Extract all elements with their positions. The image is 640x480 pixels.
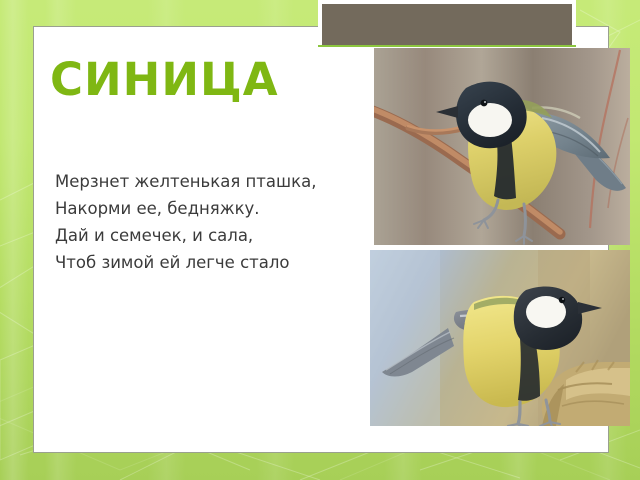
slide-canvas: СИНИЦА Мерзнет желтенькая пташка, Накорм… [0,0,640,480]
great-tit-on-stump-photo[interactable] [370,250,630,426]
poem-text-block: Мерзнет желтенькая пташка, Накорми ее, б… [55,168,316,276]
poem-line-4: Чтоб зимой ей легче стало [55,249,316,276]
photo2-artwork [370,250,630,426]
poem-line-2: Накорми ее, бедняжку. [55,195,316,222]
great-tit-on-branch-photo[interactable] [374,48,630,245]
poem-line-1: Мерзнет желтенькая пташка, [55,168,316,195]
placeholder-fill [322,4,572,45]
poem-line-3: Дай и семечек, и сала, [55,222,316,249]
empty-content-placeholder[interactable] [318,0,576,45]
page-title: СИНИЦА [50,57,279,102]
photo1-artwork [374,48,630,245]
